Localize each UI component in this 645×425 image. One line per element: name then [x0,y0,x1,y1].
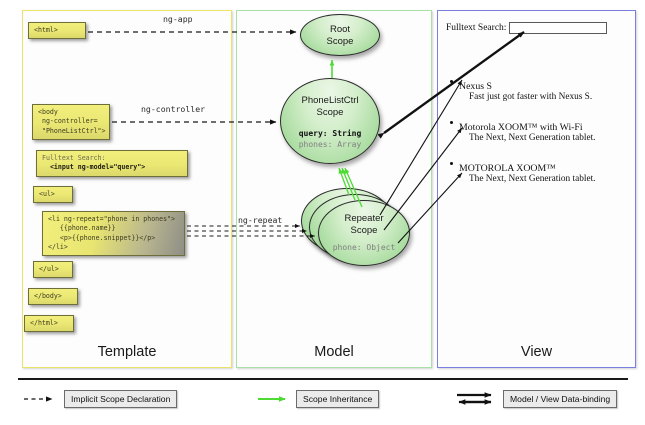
bullet-icon [450,162,453,165]
code-box-body-close: </body> [28,288,78,305]
list-item[interactable]: MOTOROLA XOOM™ The Next, Next Generation… [459,158,556,176]
legend-label: Scope Inheritance [296,390,379,408]
panel-view-label: View [438,344,635,360]
code-box-fulltext-search: Fulltext Search: <input ng-model="query"… [36,150,188,177]
view-rendered-output: Fulltext Search: Nexus S Fast just got f… [441,14,632,334]
double-arrow-icon [455,390,503,408]
panel-template-label: Template [23,344,231,360]
search-input[interactable] [509,22,607,34]
list-item[interactable]: Motorola XOOM™ with Wi-Fi The Next, Next… [459,117,583,135]
scope-ctrl-title-2: Scope [281,107,379,119]
code-box-ul-open: <ul> [33,186,73,203]
green-arrow-icon [256,390,296,408]
panel-model-label: Model [237,344,431,360]
code-box-html-close: </html> [24,315,74,332]
scope-root-title-1: Root [301,24,379,36]
scope-repeater-title-1: Repeater [319,213,409,225]
scope-root-title-2: Scope [301,36,379,48]
legend-divider [18,378,628,380]
bullet-icon [450,121,453,124]
phone-snippet: The Next, Next Generation tablet. [469,174,596,184]
scope-root: Root Scope [300,14,380,56]
phone-name: Motorola XOOM™ with Wi-Fi [459,122,583,133]
code-search-label: Fulltext Search: [42,154,106,162]
edge-label-ng-app: ng-app [163,14,193,24]
scope-repeater-instance-3: Repeater Scope phone: Object [318,200,410,266]
code-box-html-open: <html> [28,22,86,39]
scope-repeater-title-2: Scope [319,225,409,237]
edge-label-ng-repeat: ng-repeat [238,215,282,225]
dashed-arrow-icon [22,390,62,408]
bullet-icon [450,80,453,83]
code-box-ul-close: </ul> [33,261,73,278]
scope-repeater-var-phone: phone: Object [319,243,409,253]
edge-label-ng-controller: ng-controller [141,104,205,114]
phone-name: Nexus S [459,81,492,92]
code-search-input: <input ng-model="query"> [42,163,145,171]
list-item[interactable]: Nexus S Fast just got faster with Nexus … [459,76,492,94]
phone-snippet: Fast just got faster with Nexus S. [469,92,592,102]
view-search-label: Fulltext Search: [446,23,506,33]
scope-ctrl-var-query: query: String [281,129,379,139]
view-search-row: Fulltext Search: [446,22,607,34]
phone-snippet: The Next, Next Generation tablet. [469,133,596,143]
scope-ctrl-var-phones: phones: Array [281,140,379,150]
diagram-canvas: Template Model View <html> <body ng-cont… [0,0,645,425]
code-box-body-open: <body ng-controller= "PhoneListCtrl"> [32,104,110,140]
scope-ctrl-title-1: PhoneListCtrl [281,95,379,107]
legend-label: Implicit Scope Declaration [64,390,177,408]
code-box-li-ng-repeat: <li ng-repeat="phone in phones"> {{phone… [42,211,185,256]
scope-phonelistctrl: PhoneListCtrl Scope query: String phones… [280,78,380,164]
legend-label: Model / View Data-binding [503,390,617,408]
phone-name: MOTOROLA XOOM™ [459,163,556,174]
